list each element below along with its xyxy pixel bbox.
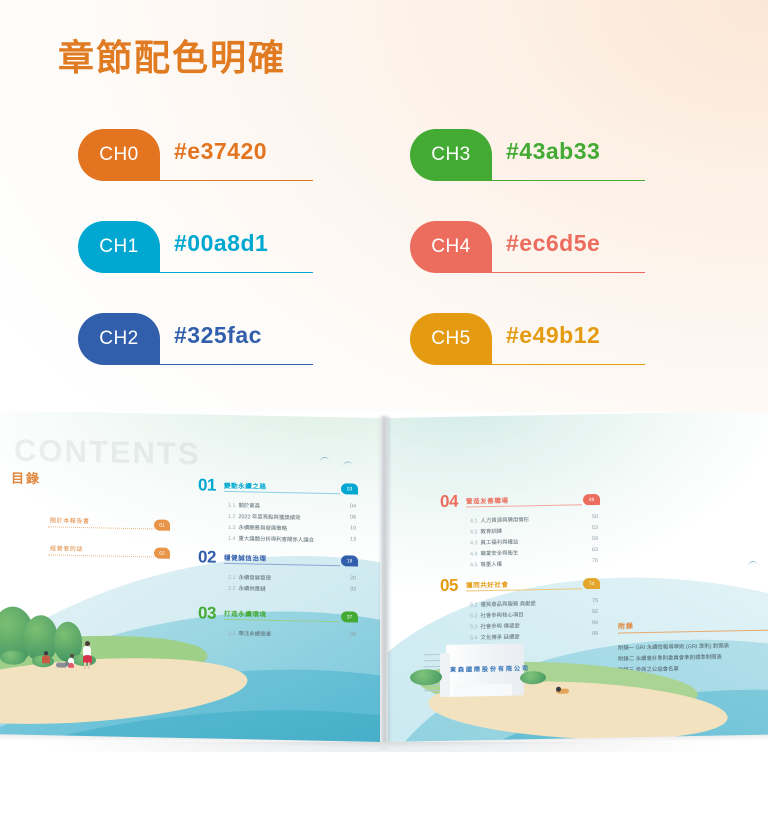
item-page: 94 xyxy=(592,620,598,626)
chapter-number: 05 xyxy=(440,576,458,596)
swatch-hex-value: #ec6d5e xyxy=(506,232,600,255)
item-number: 5.3 xyxy=(470,624,478,630)
toc-front-matter-label: 經營者的話 xyxy=(50,543,83,553)
item-label: 永續願景與發展策略 xyxy=(239,525,288,532)
swatch-hex-value: #43ab33 xyxy=(506,140,600,163)
bird-icon xyxy=(343,461,353,467)
building-name-label: 東森國際股份有限公司 xyxy=(450,663,530,674)
item-label: 職業安全與衛生 xyxy=(481,550,519,557)
item-number: 4.3 xyxy=(470,540,478,546)
palette-swatch[interactable]: CH4 #ec6d5e xyxy=(410,221,645,273)
item-number: 1.3 xyxy=(228,525,236,531)
item-number: 2.2 xyxy=(228,586,236,592)
palette-swatch[interactable]: CH2 #325fac xyxy=(78,313,313,365)
swatch-hex-value: #325fac xyxy=(174,324,262,347)
bird-icon xyxy=(320,456,330,462)
chapter-number: 01 xyxy=(198,475,216,495)
book-shadow xyxy=(0,742,768,752)
item-number: 5.4 xyxy=(470,635,478,641)
swatch-underline xyxy=(492,180,645,181)
toc-leader-line xyxy=(48,526,154,529)
item-label: 人力資源與聘用情形 xyxy=(481,517,530,524)
person-figure xyxy=(68,654,75,672)
toc-leader-line xyxy=(48,554,154,557)
item-page: 04 xyxy=(350,503,356,509)
chapter-number: 03 xyxy=(198,603,216,623)
chapter-page-badge: 37 xyxy=(341,611,358,622)
swatch-chip: CH5 xyxy=(410,313,492,365)
palette-swatch[interactable]: CH3 #43ab33 xyxy=(410,129,645,181)
contents-watermark: CONTENTS xyxy=(14,433,201,473)
building-base xyxy=(454,684,512,697)
item-label: 永續發展管理 xyxy=(239,575,271,582)
chapter-title: 穩健誠信治理 xyxy=(224,552,267,563)
book-spread-photo: CONTENTS 目錄 關於本報告書 01 經營者的話 02 01 變動永續之路 xyxy=(0,412,768,820)
item-page: 50 xyxy=(592,514,598,520)
swatch-chip: CH3 xyxy=(410,129,492,181)
book-page-left: CONTENTS 目錄 關於本報告書 01 經營者的話 02 01 變動永續之路 xyxy=(0,412,380,744)
item-label: 社會參與核心項目 xyxy=(481,612,524,619)
bush-icon xyxy=(0,650,26,665)
toc-page-badge: 02 xyxy=(154,547,170,558)
palette-panel: 章節配色明確 CH0 #e37420 CH1 #00a8d1 CH2 #325f… xyxy=(0,0,768,412)
item-label: 永續供應鏈 xyxy=(239,586,266,593)
item-page: 70 xyxy=(592,558,598,564)
item-label: 專注永續營運 xyxy=(239,631,271,638)
item-number: 1.1 xyxy=(228,503,236,509)
item-label: 2022 年度亮點與獲獎績效 xyxy=(239,514,301,521)
item-label: 關於東森 xyxy=(239,503,261,509)
person-figure xyxy=(42,651,50,667)
swatch-chip-label: CH3 xyxy=(431,145,471,164)
swatch-chip-label: CH0 xyxy=(99,145,139,164)
palette-swatch[interactable]: CH1 #00a8d1 xyxy=(78,221,313,273)
chapter-page-badge: 49 xyxy=(583,494,600,505)
item-page: 63 xyxy=(592,547,598,553)
toc-page-badge: 01 xyxy=(154,519,170,530)
swatch-hex-value: #00a8d1 xyxy=(174,232,268,255)
book-page-right: 04 營造友善職場 49 4.1人力資源與聘用情形 50 4.2教育訓練 53 … xyxy=(388,412,768,744)
chapter-page-badge: 03 xyxy=(341,483,358,494)
chapter-number: 02 xyxy=(198,547,216,567)
chapter-page-badge: 74 xyxy=(583,578,600,589)
palette-swatch-grid: CH0 #e37420 CH1 #00a8d1 CH2 #325fac CH3 xyxy=(0,0,768,412)
item-number: 2.1 xyxy=(228,575,236,581)
item-number: 5.1 xyxy=(470,602,478,608)
swatch-hex-value: #e49b12 xyxy=(506,324,600,347)
appendix-title: 附錄 xyxy=(618,621,634,631)
item-page: 20 xyxy=(350,575,356,581)
swatch-underline xyxy=(492,272,645,273)
swatch-underline xyxy=(160,364,313,365)
item-page: 38 xyxy=(350,631,356,637)
chapter-number: 04 xyxy=(440,492,458,512)
item-label: 教育訓練 xyxy=(481,529,503,535)
item-number: 4.5 xyxy=(470,562,478,568)
item-number: 5.2 xyxy=(470,613,478,619)
item-page: 53 xyxy=(592,525,598,531)
item-page: 92 xyxy=(592,609,598,615)
chapter-title: 攜同共好社會 xyxy=(466,579,509,590)
item-label: 優質產品與服務 貢獻愛 xyxy=(481,601,536,608)
swatch-chip: CH4 xyxy=(410,221,492,273)
book-spine xyxy=(380,416,390,748)
toc-front-matter-row[interactable]: 關於本報告書 01 xyxy=(48,515,170,531)
item-number: 4.2 xyxy=(470,529,478,535)
item-label: 尊重人權 xyxy=(481,562,503,568)
chapter-title: 營造友善職場 xyxy=(466,495,509,506)
swatch-underline xyxy=(492,364,645,365)
chapter-title: 變動永續之路 xyxy=(224,480,267,491)
item-page: 13 xyxy=(350,536,356,542)
item-page: 33 xyxy=(350,586,356,592)
swatch-chip: CH2 xyxy=(78,313,160,365)
item-number: 1.4 xyxy=(228,536,236,542)
dog-figure xyxy=(56,661,68,669)
item-number: 4.4 xyxy=(470,551,478,557)
palette-swatch[interactable]: CH5 #e49b12 xyxy=(410,313,645,365)
swatch-chip-label: CH1 xyxy=(99,237,139,256)
swatch-chip-label: CH5 xyxy=(431,329,471,348)
item-label: 員工福利與權益 xyxy=(481,539,519,546)
swatch-hex-value: #e37420 xyxy=(174,140,267,163)
toc-front-matter-label: 關於本報告書 xyxy=(50,515,90,525)
swatch-underline xyxy=(160,272,313,273)
item-number: 1.2 xyxy=(228,514,236,520)
chapter-page-badge: 19 xyxy=(341,555,358,566)
dog-figure xyxy=(556,687,570,696)
toc-front-matter-row[interactable]: 經營者的話 02 xyxy=(48,543,170,559)
item-label: 文化傳承 延續愛 xyxy=(481,634,520,641)
person-figure xyxy=(82,641,92,669)
item-page: 59 xyxy=(592,536,598,542)
book-stage: CONTENTS 目錄 關於本報告書 01 經營者的話 02 01 變動永續之路 xyxy=(0,412,768,752)
item-page: 75 xyxy=(592,598,598,604)
swatch-chip: CH0 xyxy=(78,129,160,181)
swatch-underline xyxy=(160,180,313,181)
item-number: 4.1 xyxy=(470,518,478,524)
item-page: 08 xyxy=(350,514,356,520)
palette-swatch[interactable]: CH0 #e37420 xyxy=(78,129,313,181)
item-page: 99 xyxy=(592,631,598,637)
swatch-chip-label: CH4 xyxy=(431,237,471,256)
contents-heading: 目錄 xyxy=(11,468,41,488)
chapter-title: 打造永續環境 xyxy=(224,608,267,619)
item-label: 社會參與 傳遞愛 xyxy=(481,623,520,630)
item-number: 3.1 xyxy=(228,631,236,637)
swatch-chip: CH1 xyxy=(78,221,160,273)
swatch-chip-label: CH2 xyxy=(99,329,139,348)
item-page: 10 xyxy=(350,525,356,531)
